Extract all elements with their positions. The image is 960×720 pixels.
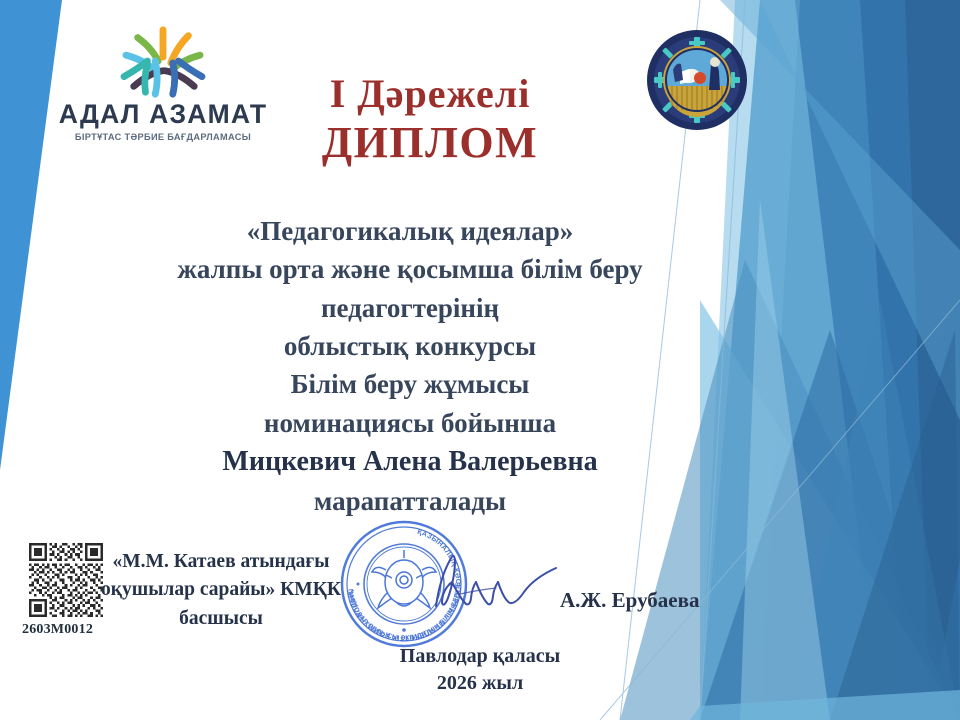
body-line: Білім беру жұмысы	[60, 365, 760, 403]
signer-name: А.Ж. Ерубаева	[560, 588, 699, 613]
body-line: облыстық конкурсы	[60, 327, 760, 365]
starburst-logo-icon	[103, 22, 223, 100]
degree-title: I Дәрежелі	[250, 72, 610, 115]
award-verb: марапатталады	[60, 482, 760, 520]
signer-title-line: оқушылар сарайы» КМҚК	[96, 576, 346, 604]
serial-number: 2603M0012	[22, 622, 93, 638]
adal-azamat-logo: АДАЛ АЗАМАТ БІРТҰТАС ТӘРБИЕ БАҒДАРЛАМАСЫ	[58, 22, 268, 142]
diploma-title: ДИПЛОМ	[250, 119, 610, 167]
logo-title: АДАЛ АЗАМАТ	[58, 101, 268, 129]
signer-title-line: басшысы	[96, 605, 346, 633]
diploma-body: «Педагогикалық идеялар» жалпы орта және …	[60, 212, 760, 520]
round-emblem-icon	[645, 28, 749, 132]
body-line: жалпы орта және қосымша білім беру	[60, 250, 760, 288]
logo-subtitle: БІРТҰТАС ТӘРБИЕ БАҒДАРЛАМАСЫ	[58, 132, 268, 142]
certificate-page: АДАЛ АЗАМАТ БІРТҰТАС ТӘРБИЕ БАҒДАРЛАМАСЫ	[0, 0, 960, 720]
diploma-heading: I Дәрежелі ДИПЛОМ	[250, 72, 610, 168]
qr-code-icon	[29, 543, 103, 617]
signer-title-line: «М.М. Катаев атындағы	[96, 548, 346, 576]
place-and-year: Павлодар қаласы 2026 жыл	[330, 643, 630, 697]
body-line: номинациясы бойынша	[60, 404, 760, 442]
body-line: «Педагогикалық идеялар»	[60, 212, 760, 250]
signature-icon	[430, 548, 570, 618]
signer-title: «М.М. Катаев атындағы оқушылар сарайы» К…	[96, 548, 346, 633]
body-line: педагогтерінің	[60, 289, 760, 327]
year-line: 2026 жыл	[330, 670, 630, 697]
recipient-name: Мицкевич Алена Валерьевна	[60, 442, 760, 482]
